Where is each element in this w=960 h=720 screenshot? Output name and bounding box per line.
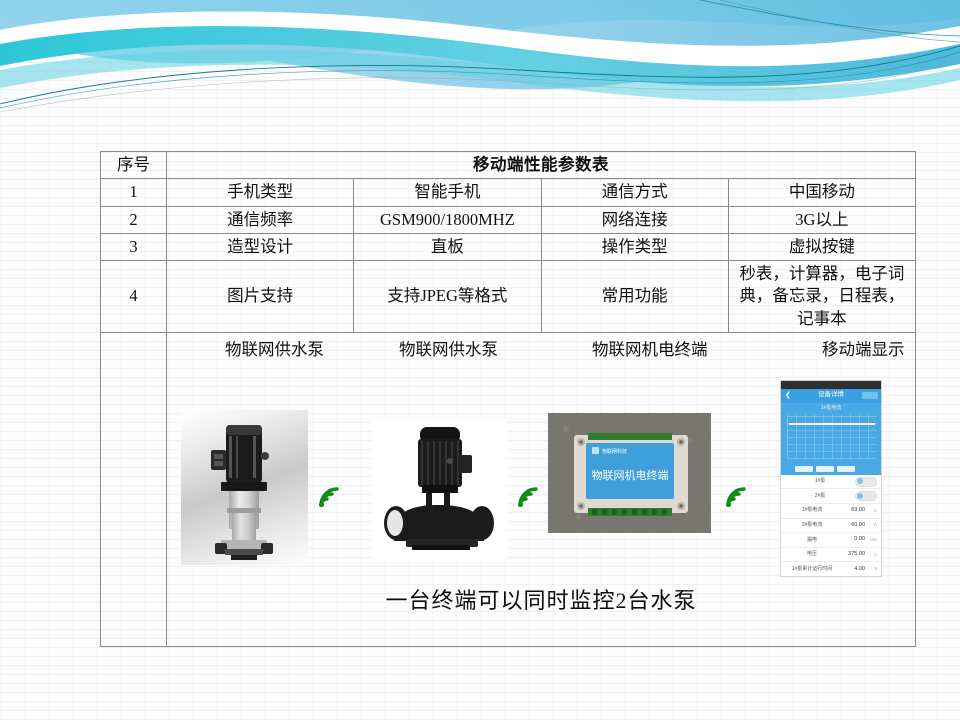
label-pump-1: 物联网供水泵 (225, 339, 324, 361)
list-item-label: 电压 (785, 551, 839, 558)
phone-chart-grid (787, 414, 877, 459)
list-item-unit: A (865, 522, 877, 528)
cell-key1: 通信频率 (167, 206, 354, 233)
table-header-row: 序号 移动端性能参数表 (101, 152, 916, 179)
cell-val1: GSM900/1800MHZ (354, 206, 541, 233)
phone-chart-legend (795, 466, 855, 472)
cell-key2: 常用功能 (541, 261, 728, 333)
table-row: 2 通信频率 GSM900/1800MHZ 网络连接 3G以上 (101, 206, 916, 233)
list-item-label: 2#泵电流 (785, 522, 839, 529)
list-item-label: 漏电 (785, 537, 839, 544)
phone-status-bar (781, 381, 881, 389)
pump-1-toggle[interactable] (855, 477, 877, 487)
cell-val1: 支持JPEG等格式 (354, 261, 541, 333)
image-iot-terminal-device: 物联网科技 物联网机电终端 (548, 413, 711, 533)
cell-key2: 操作类型 (541, 233, 728, 260)
list-item-value: 4.00 (839, 566, 865, 573)
phone-parameter-list: 1#泵 2#泵 1#泵电流 63.00 A (781, 475, 881, 577)
phone-current-chart: 1#泵电流 (781, 403, 881, 475)
cell-key1: 手机类型 (167, 179, 354, 206)
decorative-wave-banner (0, 0, 960, 118)
pump-2-toggle[interactable] (855, 491, 877, 501)
list-item[interactable]: 漏电 0.00 mA (781, 533, 881, 548)
mobile-parameters-table: 序号 移动端性能参数表 1 手机类型 智能手机 通信方式 中国移动 2 通信频率… (100, 151, 916, 647)
wifi-signal-icon (315, 483, 345, 511)
wifi-signal-icon (514, 483, 544, 511)
cell-key1: 图片支持 (167, 261, 354, 333)
list-item-label: 1#泵电流 (785, 507, 839, 514)
cell-seq: 3 (101, 233, 167, 260)
svg-text:物联网科技: 物联网科技 (602, 448, 627, 455)
image-mobile-app-screenshot: ❮ 设备详情 1#泵电流 1#泵 (780, 380, 882, 577)
list-item-label: 1#泵 (785, 478, 855, 485)
list-item-unit: A (865, 508, 877, 514)
list-item[interactable]: 2#泵 (781, 489, 881, 504)
cell-seq: 2 (101, 206, 167, 233)
list-item-value: 375.00 (839, 551, 865, 558)
cell-seq: 4 (101, 261, 167, 333)
list-item-unit: h (865, 566, 877, 572)
cell-key2: 通信方式 (541, 179, 728, 206)
image-inline-pump (372, 419, 507, 559)
cell-key1: 造型设计 (167, 233, 354, 260)
table-row: 1 手机类型 智能手机 通信方式 中国移动 (101, 179, 916, 206)
list-item[interactable]: 2#泵电流 60.00 A (781, 519, 881, 534)
list-item-label: 2#泵 (785, 493, 855, 500)
cell-val2: 3G以上 (728, 206, 915, 233)
label-terminal: 物联网机电终端 (592, 339, 708, 361)
cell-val2: 中国移动 (728, 179, 915, 206)
table-diagram-row: 物联网供水泵 物联网供水泵 物联网机电终端 移动端显示 (101, 332, 916, 646)
diagram-cell: 物联网供水泵 物联网供水泵 物联网机电终端 移动端显示 (167, 332, 916, 646)
list-item[interactable]: 电压 375.00 V (781, 548, 881, 563)
header-seq-cell: 序号 (101, 152, 167, 179)
phone-app-header: ❮ 设备详情 (781, 389, 881, 403)
cell-val1: 直板 (354, 233, 541, 260)
svg-text:物联网机电终端: 物联网机电终端 (592, 468, 669, 482)
header-title-cell: 移动端性能参数表 (167, 152, 916, 179)
list-item[interactable]: 1#泵 (781, 475, 881, 490)
list-item[interactable]: 1#泵电流 63.00 A (781, 504, 881, 519)
cell-val2: 秒表，计算器，电子词典，备忘录，日程表，记事本 (728, 261, 915, 333)
image-vertical-multistage-pump (181, 410, 308, 565)
list-item-value: 60.00 (839, 522, 865, 529)
list-item-value: 63.00 (839, 507, 865, 514)
cell-val1: 智能手机 (354, 179, 541, 206)
table-row: 4 图片支持 支持JPEG等格式 常用功能 秒表，计算器，电子词典，备忘录，日程… (101, 261, 916, 333)
label-pump-2: 物联网供水泵 (399, 339, 498, 361)
table-row: 3 造型设计 直板 操作类型 虚拟按键 (101, 233, 916, 260)
list-item-unit: V (865, 552, 877, 558)
cell-val2: 虚拟按键 (728, 233, 915, 260)
phone-chart-series-line (789, 423, 875, 425)
wifi-signal-icon (722, 483, 752, 511)
phone-header-action-button[interactable] (862, 392, 878, 399)
list-item-unit: mA (865, 537, 877, 543)
list-item[interactable]: 1#泵累计运行时间 4.00 h (781, 562, 881, 576)
phone-chart-subtitle: 1#泵电流 (781, 405, 881, 412)
cell-key2: 网络连接 (541, 206, 728, 233)
list-item-value: 0.00 (839, 536, 865, 543)
cell-seq: 1 (101, 179, 167, 206)
list-item-label: 1#泵累计运行时间 (785, 566, 839, 573)
label-mobile: 移动端显示 (822, 339, 905, 361)
diagram-seq-spacer (101, 332, 167, 646)
diagram-caption: 一台终端可以同时监控2台水泵 (167, 586, 915, 616)
iot-topology-diagram: 物联网供水泵 物联网供水泵 物联网机电终端 移动端显示 (167, 333, 915, 646)
